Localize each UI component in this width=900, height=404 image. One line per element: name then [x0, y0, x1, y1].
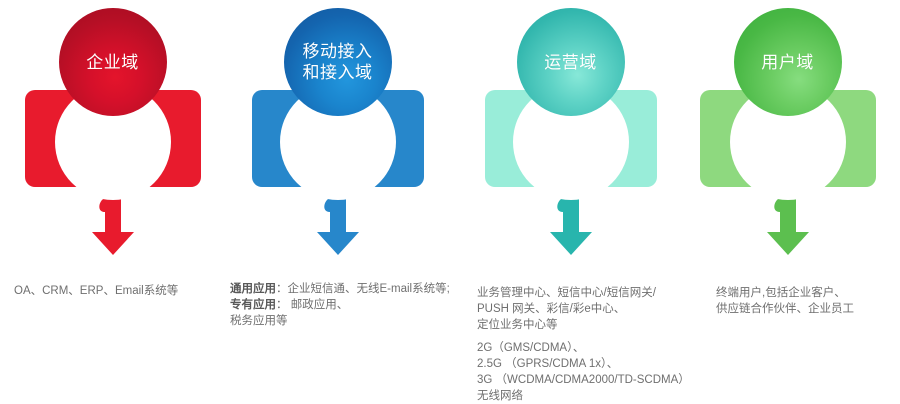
caption-line: 税务应用等 [230, 313, 450, 329]
caption-user: 终端用户,包括企业客户、 供应链合作伙伴、企业员工 [675, 285, 900, 317]
caption-line: 专有应用： 邮政应用、 [230, 297, 450, 313]
caption-operation-networks: 2G（GMS/CDMA）、 2.5G （GPRS/CDMA 1x）、 3G （W… [458, 340, 683, 404]
caption-line: 无线网络 [477, 388, 683, 404]
domain-circle-operation: 运营域 [517, 8, 625, 116]
domain-column-enterprise: 企业遗留应用 企业域 OA、CRM、ERP、Email系统等 [0, 0, 225, 404]
caption-mobile-access: 通用应用：企业短信通、无线E-mail系统等; 专有应用： 邮政应用、 税务应用… [225, 281, 450, 329]
domain-circle-label: 用户域 [761, 52, 814, 73]
down-arrow-icon-user [758, 198, 818, 256]
caption-operation-services: 业务管理中心、短信中心/短信网关/ PUSH 网关、彩信/彩e中心、 定位业务中… [458, 285, 683, 333]
caption-enterprise: OA、CRM、ERP、Email系统等 [0, 283, 225, 299]
caption-line: PUSH 网关、彩信/彩e中心、 [477, 301, 683, 317]
caption-line: 2G（GMS/CDMA）、 [477, 340, 683, 356]
caption-line: 定位业务中心等 [477, 317, 683, 333]
caption-text: ：企业短信通、无线E-mail系统等; [276, 283, 450, 295]
caption-text: ： 邮政应用、 [276, 299, 348, 311]
down-arrow-icon-operation [541, 198, 601, 256]
caption-line: 3G （WCDMA/CDMA2000/TD-SCDMA） [477, 372, 683, 388]
caption-line: 供应链合作伙伴、企业员工 [716, 301, 900, 317]
caption-line: 2.5G （GPRS/CDMA 1x）、 [477, 356, 683, 372]
diagram-canvas: 企业遗留应用 企业域 OA、CRM、ERP、Email系统等 企业应用层 网络介… [0, 0, 900, 404]
domain-column-user: 用户层 用户域 终端用户,包括企业客户、 供应链合作伙伴、企业员工 [675, 0, 900, 404]
domain-circle-mobile-access: 移动接入 和接入域 [284, 8, 392, 116]
caption-line: 业务管理中心、短信中心/短信网关/ [477, 285, 683, 301]
caption-emphasis: 通用应用 [230, 283, 276, 295]
domain-column-mobile-access: 企业应用层 网络介入层 移动接入 和接入域 通用应用：企业短信通、无线E-mai… [225, 0, 450, 404]
domain-circle-label: 企业域 [86, 52, 139, 73]
caption-line: 终端用户,包括企业客户、 [716, 285, 900, 301]
down-arrow-icon-enterprise [83, 198, 143, 256]
domain-column-operation: 业务使能层 网络承载层 运营域 业务管理中心、短信中心/短信网关/ PUSH 网… [458, 0, 683, 404]
domain-circle-user: 用户域 [734, 8, 842, 116]
caption-emphasis: 专有应用 [230, 299, 276, 311]
domain-circle-label: 运营域 [544, 52, 597, 73]
domain-circle-enterprise: 企业域 [59, 8, 167, 116]
domain-circle-label: 移动接入 和接入域 [303, 41, 373, 83]
caption-line: 通用应用：企业短信通、无线E-mail系统等; [230, 281, 450, 297]
down-arrow-icon-mobile-access [308, 198, 368, 256]
caption-line: OA、CRM、ERP、Email系统等 [14, 283, 225, 299]
